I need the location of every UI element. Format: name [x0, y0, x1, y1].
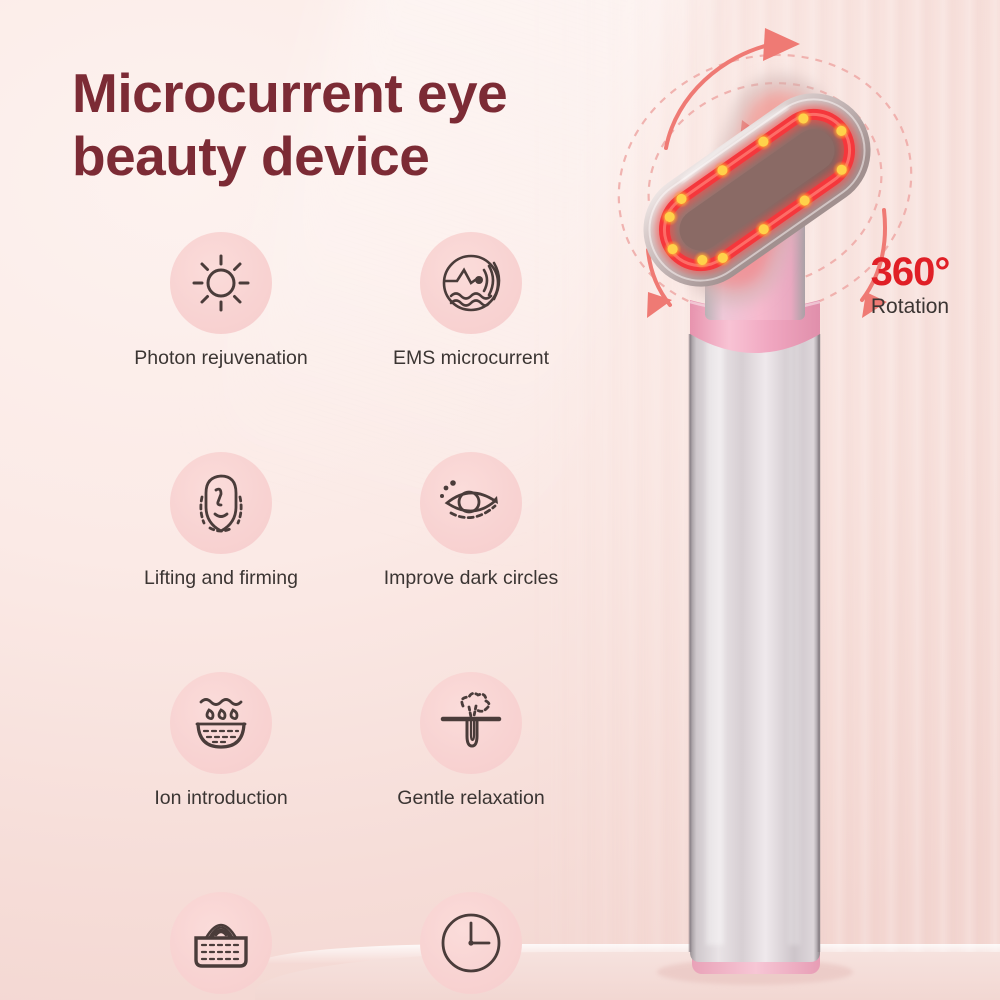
feature-icon-disc — [420, 672, 522, 774]
led-ring-glow — [650, 100, 863, 279]
feature-row: Ion introduction Gentle relaxation — [96, 672, 596, 810]
title-line-2: beauty device — [72, 125, 652, 188]
skin-layers-wave-icon — [188, 912, 254, 974]
feature-icon-disc — [170, 672, 272, 774]
handle-specular-2 — [788, 340, 800, 945]
head-face — [648, 97, 867, 282]
head-specular — [679, 103, 788, 181]
led-dot-group — [639, 89, 874, 291]
head-motion-ghost — [669, 60, 845, 320]
feature-icon-disc — [420, 452, 522, 554]
feature-label: Ion introduction — [154, 787, 287, 810]
pore-steam-icon — [438, 692, 504, 754]
ems-wave-icon — [438, 250, 504, 316]
collar-top-highlight — [690, 302, 820, 311]
feature-row: Photon rejuvenation EMS microcurr — [96, 232, 596, 370]
head-inner-plate — [671, 121, 843, 259]
feature-list: Photon rejuvenation EMS microcurr — [96, 232, 596, 1000]
feature-label: Improve dark circles — [384, 567, 558, 590]
feature-item-automatic-timing[interactable]: Automatic timing — [346, 892, 596, 1000]
sun-icon — [190, 252, 252, 314]
page-title: Microcurrent eye beauty device — [72, 62, 652, 189]
feature-item-ion-introduction[interactable]: Ion introduction — [96, 672, 346, 810]
clock-icon — [439, 911, 503, 975]
device-handle — [690, 332, 820, 962]
feature-row: Lifting and firming Improve dark circles — [96, 452, 596, 590]
feature-icon-disc — [170, 892, 272, 994]
handle-specular — [706, 340, 724, 945]
device-shadow — [657, 959, 853, 985]
water-droplet-skin-icon — [189, 694, 253, 752]
feature-item-gentle-relaxation[interactable]: Gentle relaxation — [346, 672, 596, 810]
rotation-value: 360° — [845, 252, 975, 292]
feature-item-improve-dark-circles[interactable]: Improve dark circles — [346, 452, 596, 590]
feature-icon-disc — [420, 232, 522, 334]
device-neck — [705, 215, 805, 320]
rotation-caption: Rotation — [845, 295, 975, 319]
feature-icon-disc — [420, 892, 522, 994]
feature-label: Photon rejuvenation — [134, 347, 307, 370]
handle-collar — [690, 300, 820, 353]
eye-icon — [437, 475, 505, 531]
feature-row: Promote metabolism Automatic timing — [96, 892, 596, 1000]
led-ring — [650, 100, 863, 279]
feature-label: Gentle relaxation — [397, 787, 544, 810]
feature-item-photon-rejuvenation[interactable]: Photon rejuvenation — [96, 232, 346, 370]
feature-label: EMS microcurrent — [393, 347, 549, 370]
rotation-badge: 360° Rotation — [845, 252, 975, 319]
face-profile-icon — [190, 471, 252, 535]
feature-icon-disc — [170, 452, 272, 554]
feature-item-ems-microcurrent[interactable]: EMS microcurrent — [346, 232, 596, 370]
feature-item-lifting-and-firming[interactable]: Lifting and firming — [96, 452, 346, 590]
feature-label: Lifting and firming — [144, 567, 298, 590]
led-ring-inner-edge — [650, 100, 863, 279]
feature-icon-disc — [170, 232, 272, 334]
feature-item-promote-metabolism[interactable]: Promote metabolism — [96, 892, 346, 1000]
title-line-1: Microcurrent eye — [72, 62, 652, 125]
device-base — [692, 944, 820, 974]
product-image: Microcurrent eye beauty device — [0, 0, 1000, 1000]
